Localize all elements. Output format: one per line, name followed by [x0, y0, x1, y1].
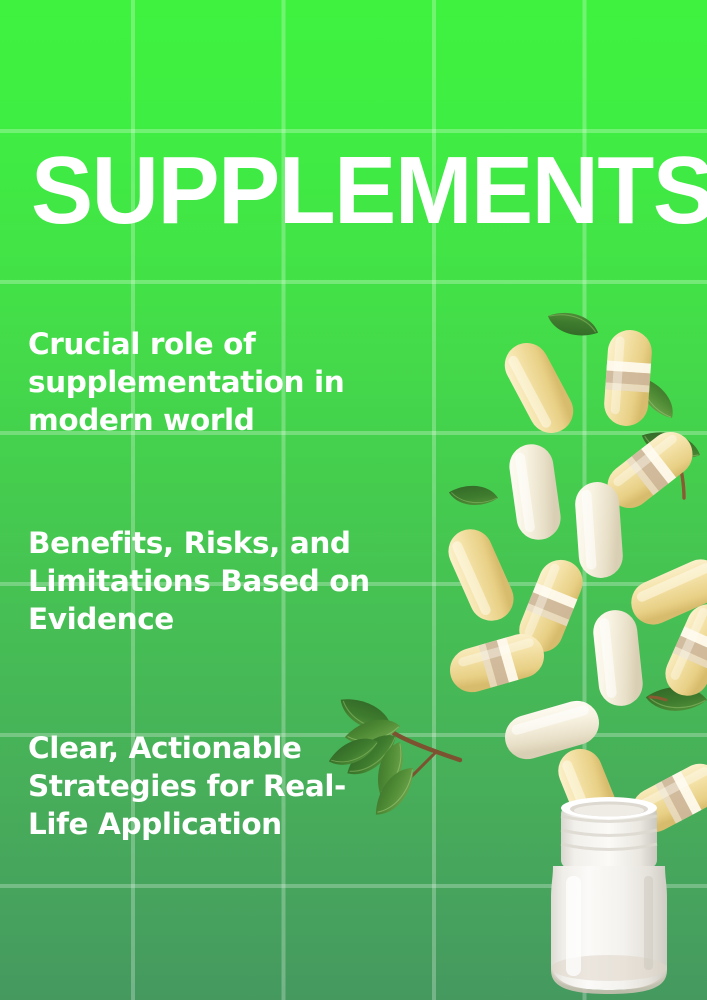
bullet-point-2: Benefits, Risks, and Limitations Based o…: [28, 524, 388, 638]
page-title: SUPPLEMENTS: [31, 143, 707, 239]
bullet-point-3: Clear, Actionable Strategies for Real-Li…: [28, 729, 388, 843]
bullet-point-1: Crucial role of supplementation in moder…: [28, 325, 388, 439]
supplements-poster: SUPPLEMENTS Crucial role of supplementat…: [0, 0, 707, 1000]
text-layer: SUPPLEMENTS Crucial role of supplementat…: [0, 0, 707, 1000]
